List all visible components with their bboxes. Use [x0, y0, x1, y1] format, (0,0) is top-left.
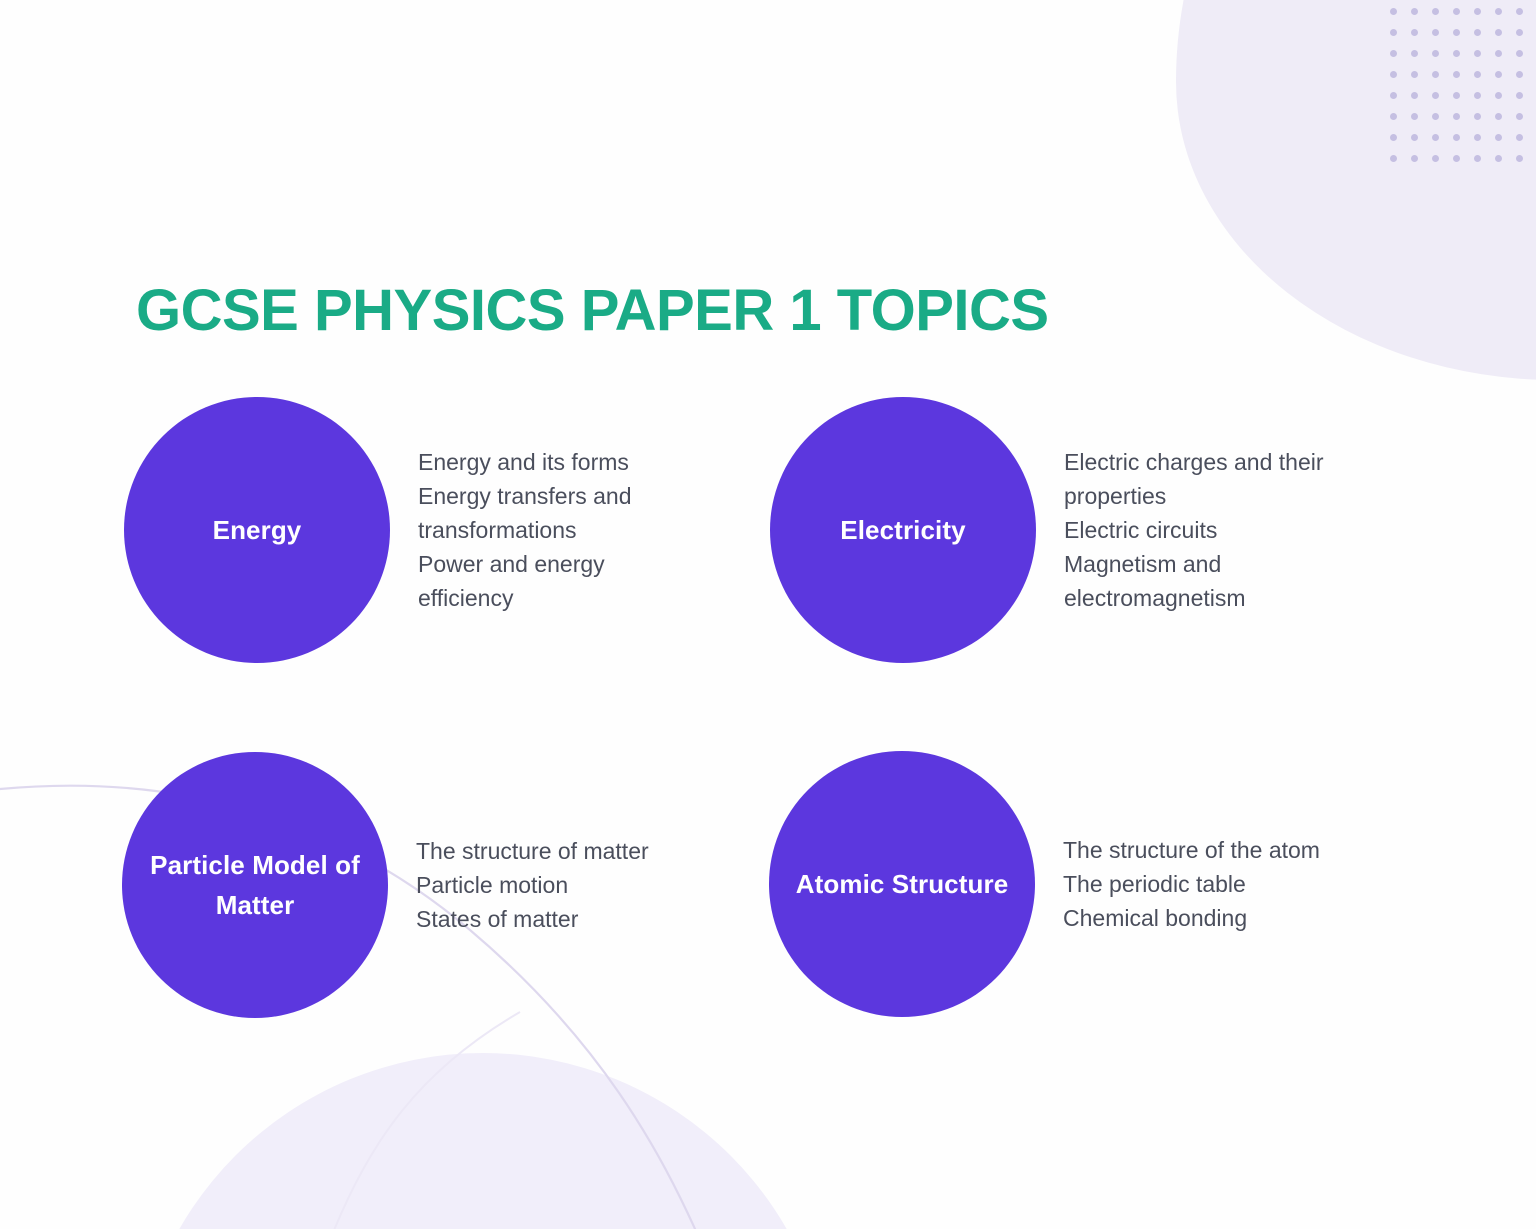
- topic-card-energy[interactable]: Energy Energy and its forms Energy trans…: [124, 397, 688, 663]
- topic-point: Electric circuits: [1064, 513, 1384, 547]
- topic-circle-label-particle-model-of-matter: Particle Model of Matter: [122, 845, 388, 926]
- topic-point: Power and energy efficiency: [418, 547, 688, 615]
- topic-card-atomic-structure[interactable]: Atomic Structure The structure of the at…: [769, 751, 1320, 1017]
- topic-point: Magnetism and electromagnetism: [1064, 547, 1384, 615]
- topic-point: Electric charges and their properties: [1064, 445, 1384, 513]
- topic-circle-energy[interactable]: Energy: [124, 397, 390, 663]
- topic-circle-label-electricity: Electricity: [818, 510, 987, 550]
- topic-circle-electricity[interactable]: Electricity: [770, 397, 1036, 663]
- topic-circle-atomic-structure[interactable]: Atomic Structure: [769, 751, 1035, 1017]
- infographic-canvas: GCSE PHYSICS PAPER 1 TOPICS Energy Energ…: [0, 0, 1536, 1229]
- topic-point: Energy transfers and transformations: [418, 479, 688, 547]
- topic-point: Energy and its forms: [418, 445, 688, 479]
- topic-points-atomic-structure: The structure of the atom The periodic t…: [1063, 833, 1320, 935]
- topic-points-electricity: Electric charges and their properties El…: [1064, 445, 1384, 615]
- topic-points-particle-model-of-matter: The structure of matter Particle motion …: [416, 834, 649, 936]
- topic-point: The structure of matter: [416, 834, 649, 868]
- topic-point: Chemical bonding: [1063, 901, 1320, 935]
- topic-card-particle-model-of-matter[interactable]: Particle Model of Matter The structure o…: [122, 752, 649, 1018]
- topics-grid: Energy Energy and its forms Energy trans…: [0, 0, 1536, 1229]
- topic-point: States of matter: [416, 902, 649, 936]
- topic-point: Particle motion: [416, 868, 649, 902]
- topic-circle-particle-model-of-matter[interactable]: Particle Model of Matter: [122, 752, 388, 1018]
- topic-point: The periodic table: [1063, 867, 1320, 901]
- topic-points-energy: Energy and its forms Energy transfers an…: [418, 445, 688, 615]
- topic-point: The structure of the atom: [1063, 833, 1320, 867]
- topic-circle-label-atomic-structure: Atomic Structure: [774, 864, 1031, 904]
- topic-card-electricity[interactable]: Electricity Electric charges and their p…: [770, 397, 1384, 663]
- topic-circle-label-energy: Energy: [191, 510, 324, 550]
